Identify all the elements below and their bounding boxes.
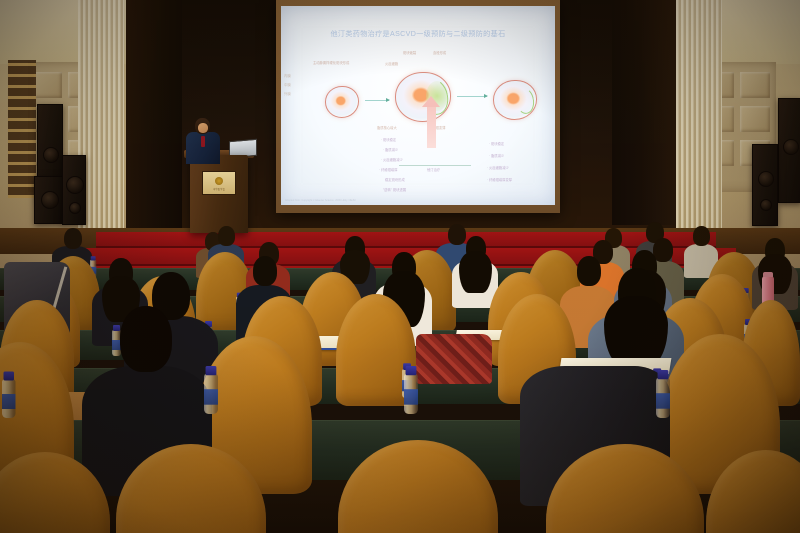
pa-speaker-left-lower (34, 176, 64, 224)
slide-bullet-left-1: · 斑块稳定 (381, 137, 396, 143)
slide-bullet-right-4: · 纤维帽增厚变厚 (487, 177, 512, 183)
red-plaid-coat (416, 334, 492, 384)
water-bottle-e1 (204, 374, 218, 414)
slide-bullet-left-4: · 纤维帽增厚 (379, 167, 398, 173)
artery-cross-section-3 (493, 80, 537, 120)
slide-bullet-left-3: · 炎症细胞减少 (381, 157, 403, 163)
axis-label-adventitia: 外膜 (284, 90, 291, 99)
slide-divider-line (399, 165, 471, 166)
slide-bullet-left-6: "逆转" 斑块进展 (383, 187, 406, 193)
projection-screen: 他汀类药物治疗是ASCVD一级预防与二级预防的基石 内膜 中膜 外膜 主动脉粥样… (276, 0, 560, 213)
conference-hall-photo: 他汀类药物治疗是ASCVD一级预防与二级预防的基石 内膜 中膜 外膜 主动脉粥样… (0, 0, 800, 533)
slide-caption-plaque-formation: 主动脉粥样硬化斑块形成 (313, 60, 349, 65)
slide-title: 他汀类药物治疗是ASCVD一级预防与二级预防的基石 (281, 29, 555, 39)
attendee-b6 (752, 238, 798, 306)
slide-caption-lipid-core: 脂质核心增大 (377, 125, 397, 130)
pa-speaker-left-mid (62, 155, 86, 225)
presenter-face (198, 123, 208, 133)
slide-caption-rupture: 斑块破裂 (403, 50, 416, 55)
emblem-seal-icon (215, 177, 223, 185)
decorative-lattice-grille (8, 60, 36, 198)
slide-bullet-right-3: · 炎症细胞减少 (487, 165, 509, 171)
slide-arrow-label: 他汀治疗 (427, 167, 440, 173)
slide-bullet-right-2: · 脂质减少 (489, 153, 504, 159)
axis-label-media: 中膜 (284, 81, 291, 90)
podium: 中华医学会 (190, 155, 248, 233)
slide-surface: 他汀类药物治疗是ASCVD一级预防与二级预防的基石 内膜 中膜 外膜 主动脉粥样… (281, 6, 555, 205)
presenter (186, 118, 220, 162)
slide-bullet-left-5: 稳定斑块形成 (385, 177, 405, 183)
podium-emblem-plaque: 中华医学会 (202, 171, 236, 195)
emblem-text: 中华医学会 (203, 187, 235, 191)
slide-caption-thrombus: 血栓形成 (433, 50, 446, 55)
slide-footer-citation: Adapted from: Copyright © Elsevier Scien… (285, 199, 355, 202)
axis-label-intima: 内膜 (284, 72, 291, 81)
stage-curtain-left (118, 0, 182, 232)
slide-progress-arrow-2 (457, 96, 487, 97)
water-bottle-e4 (2, 379, 16, 418)
slide-caption-inflammatory-cells: 炎症细胞 (385, 61, 398, 66)
water-bottle-e3 (656, 378, 670, 418)
artery-cross-section-1 (325, 86, 359, 118)
water-bottle-e2 (404, 374, 418, 414)
attendee-b3 (452, 236, 498, 304)
slide-bullet-right-1: · 斑块稳定 (489, 141, 504, 147)
presenter-tie (201, 136, 205, 147)
slide-bullet-left-2: · 脂质减少 (383, 147, 398, 153)
pa-speaker-right-mid (752, 144, 778, 226)
slide-progress-arrow-1 (365, 100, 389, 101)
statin-treatment-arrow (427, 106, 436, 148)
pa-speaker-right-tall (778, 98, 800, 203)
slide-axis-labels: 内膜 中膜 外膜 (284, 72, 291, 99)
column-right (676, 0, 722, 262)
